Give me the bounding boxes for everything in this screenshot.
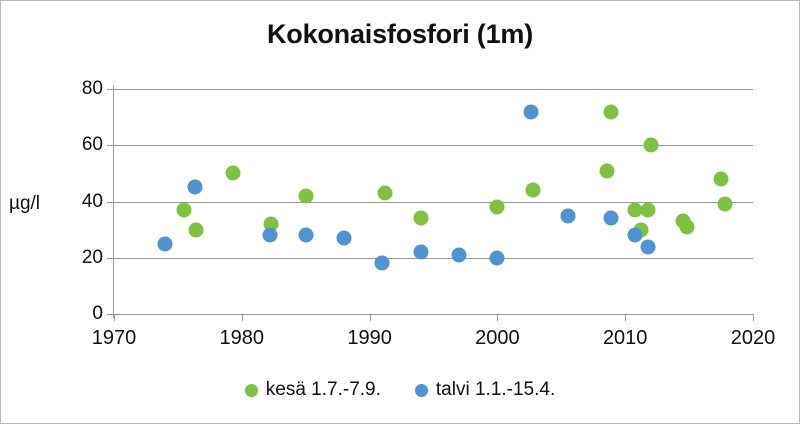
y-axis-tick-labels: 020406080 <box>47 1 103 425</box>
y-tick-40 <box>107 202 114 203</box>
y-tick-60 <box>107 145 114 146</box>
x-tick-label-2010: 2010 <box>603 327 648 350</box>
y-tick-80 <box>107 89 114 90</box>
data-point <box>717 197 732 212</box>
gridline-y-20 <box>114 258 753 259</box>
y-tick-label-20: 20 <box>57 247 103 269</box>
legend-item-talvi[interactable]: talvi 1.1.-15.4. <box>415 379 555 401</box>
data-point <box>490 200 505 215</box>
data-point <box>177 202 192 217</box>
data-point <box>714 172 729 187</box>
x-tick-2010 <box>625 314 626 321</box>
data-point <box>158 236 173 251</box>
gridline-y-0 <box>114 314 753 315</box>
x-tick-1970 <box>114 314 115 321</box>
legend-marker-icon <box>245 384 258 397</box>
data-point <box>641 202 656 217</box>
data-point <box>604 104 619 119</box>
x-tick-label-1980: 1980 <box>220 327 265 350</box>
plot-area <box>114 89 753 314</box>
data-point <box>413 211 428 226</box>
x-tick-2000 <box>497 314 498 321</box>
y-tick-label-80: 80 <box>57 78 103 100</box>
x-tick-1980 <box>242 314 243 321</box>
data-point <box>413 245 428 260</box>
gridline-y-80 <box>114 89 753 90</box>
legend-item-kesa[interactable]: kesä 1.7.-7.9. <box>245 379 381 401</box>
x-tick-2020 <box>753 314 754 321</box>
data-point <box>679 219 694 234</box>
data-point <box>641 239 656 254</box>
chart-legend: kesä 1.7.-7.9.talvi 1.1.-15.4. <box>1 379 799 401</box>
y-tick-label-0: 0 <box>57 303 103 325</box>
chart-title: Kokonaisfosfori (1m) <box>1 19 799 50</box>
y-tick-label-60: 60 <box>57 134 103 156</box>
x-tick-label-1990: 1990 <box>347 327 392 350</box>
data-point <box>600 163 615 178</box>
data-point <box>225 166 240 181</box>
y-tick-20 <box>107 258 114 259</box>
data-point <box>298 188 313 203</box>
legend-label: talvi 1.1.-15.4. <box>436 379 555 401</box>
data-point <box>262 228 277 243</box>
data-point <box>298 228 313 243</box>
y-tick-label-40: 40 <box>57 191 103 213</box>
y-tick-0 <box>107 314 114 315</box>
data-point <box>452 247 467 262</box>
data-point <box>375 256 390 271</box>
data-point <box>560 208 575 223</box>
legend-marker-icon <box>415 384 428 397</box>
data-point <box>337 231 352 246</box>
data-point <box>628 228 643 243</box>
data-point <box>643 138 658 153</box>
legend-label: kesä 1.7.-7.9. <box>266 379 381 401</box>
data-point <box>188 222 203 237</box>
data-point <box>604 211 619 226</box>
data-point <box>187 180 202 195</box>
x-tick-1990 <box>370 314 371 321</box>
y-axis-title: µg/l <box>9 193 40 215</box>
data-point <box>490 250 505 265</box>
x-tick-label-2000: 2000 <box>475 327 520 350</box>
data-point <box>377 186 392 201</box>
chart-frame: Kokonaisfosfori (1m) µg/l 020406080 1970… <box>0 0 800 424</box>
gridline-y-40 <box>114 202 753 203</box>
data-point <box>526 183 541 198</box>
data-point <box>523 104 538 119</box>
x-tick-label-2020: 2020 <box>731 327 776 350</box>
